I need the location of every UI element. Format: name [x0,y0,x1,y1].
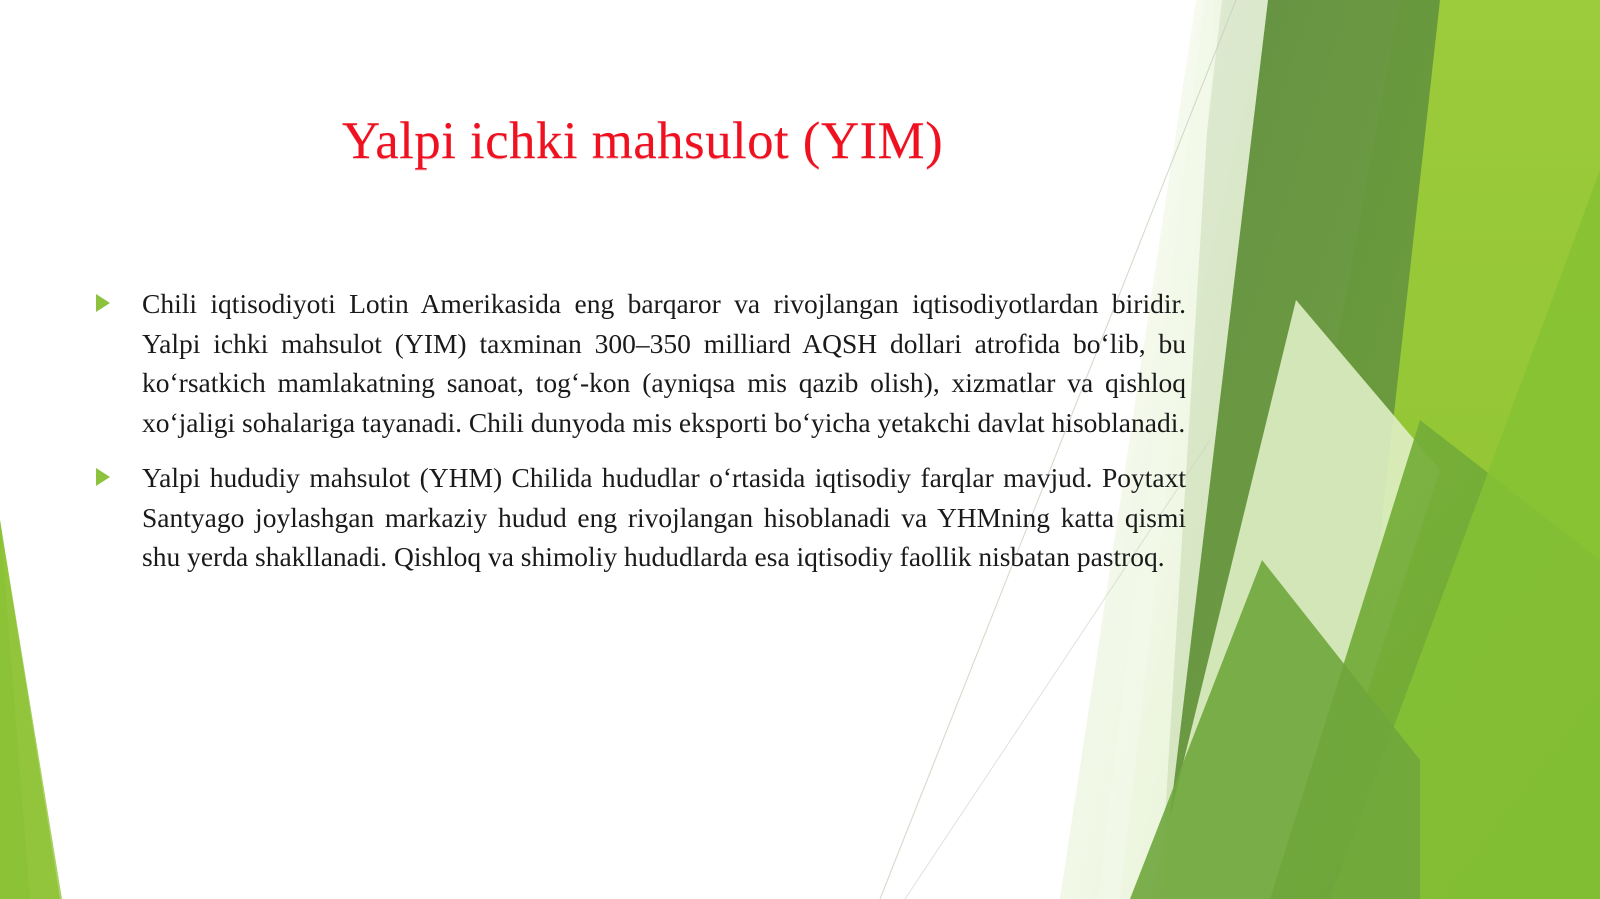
shard-green-bottom-left [0,520,60,899]
bullet-text-1: Chili iqtisodiyoti Lotin Amerikasida eng… [142,284,1186,442]
shard-olive-bottom [1130,560,1420,899]
presentation-slide: Yalpi ichki mahsulot (YIM) Chili iqtisod… [0,0,1600,899]
shard-lime-right [1235,0,1600,899]
title-area: Yalpi ichki mahsulot (YIM) [0,76,1285,205]
triangle-bullet-icon-2 [96,458,142,486]
page-title: Yalpi ichki mahsulot (YIM) [342,112,943,170]
shard-green-bottom-left-accent [0,520,62,899]
content-body: Chili iqtisodiyoti Lotin Amerikasida eng… [96,284,1186,577]
shard-bright-lower-right [1330,170,1600,899]
bullet-item-2: Yalpi hududiy mahsulot (YHM) Chilida hud… [96,458,1186,577]
bullet-item-1: Chili iqtisodiyoti Lotin Amerikasida eng… [96,284,1186,442]
triangle-bullet-icon-1 [96,284,142,312]
shard-pale-mid-right [1150,300,1440,899]
shard-green-lower-right [1270,420,1600,899]
bullet-text-2: Yalpi hududiy mahsulot (YHM) Chilida hud… [142,458,1186,577]
